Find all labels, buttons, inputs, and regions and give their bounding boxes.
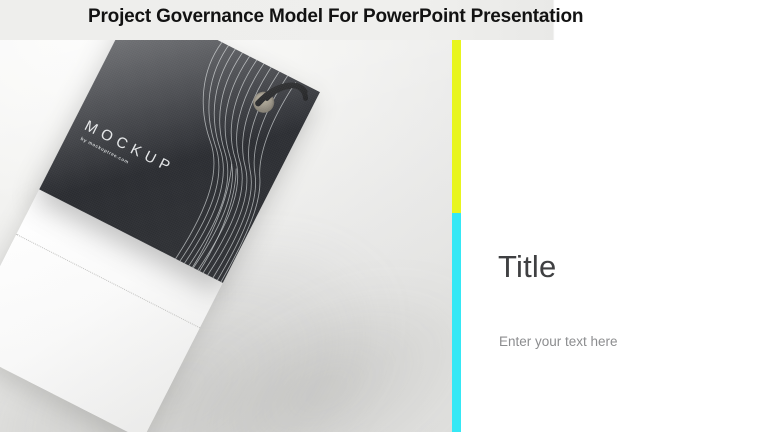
slide-header: Project Governance Model For PowerPoint … [0,0,768,40]
hang-tag-mockup-photo: MOCKUP by mockuptree.com [0,0,457,432]
content-title[interactable]: Title [498,251,556,282]
hang-tag-assembly: MOCKUP by mockuptree.com [0,0,320,432]
content-body-placeholder[interactable]: Enter your text here [499,334,618,350]
accent-divider-bar [452,40,461,432]
content-pane: Title Enter your text here [461,40,768,432]
page-title: Project Governance Model For PowerPoint … [88,6,583,28]
slide-canvas: MOCKUP by mockuptree.com Title Enter you… [0,0,768,432]
yellow-accent-segment [452,40,461,213]
cyan-accent-segment [452,213,461,432]
